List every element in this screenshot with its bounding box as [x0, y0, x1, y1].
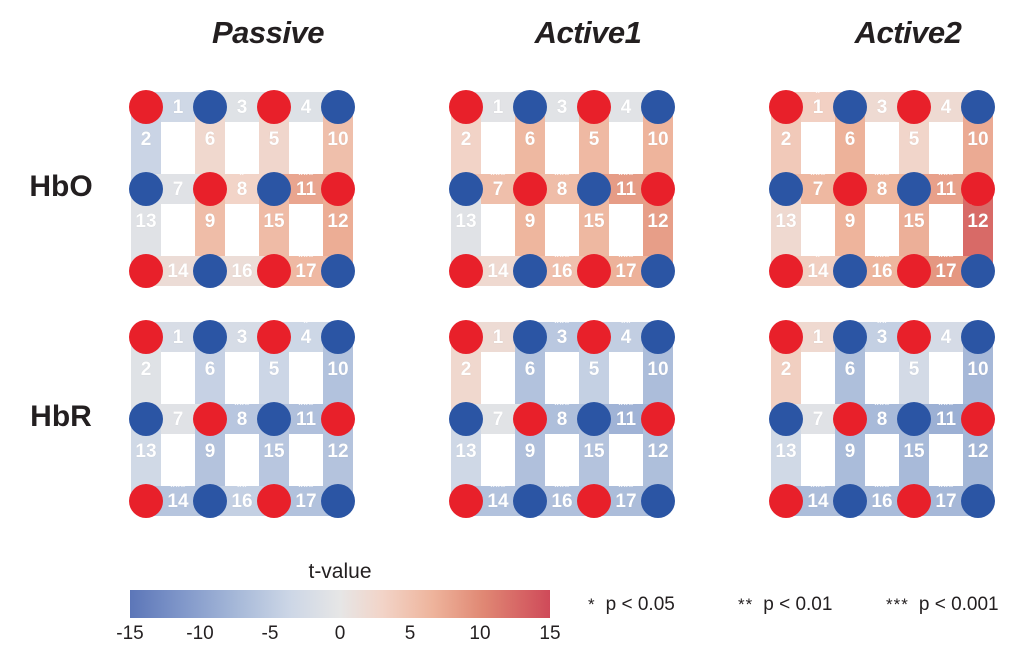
- source-optode-S3: [193, 402, 227, 436]
- channel-2-label: 2: [451, 360, 481, 379]
- legend-p01: **p < 0.01: [738, 594, 832, 616]
- channel-10-label: 10: [963, 360, 993, 379]
- source-optode-S1: [769, 320, 803, 354]
- channel-6-label: 6: [835, 130, 865, 149]
- detector-optode-D5: [513, 484, 547, 518]
- source-optode-S4: [321, 172, 355, 206]
- source-optode-S2: [257, 90, 291, 124]
- source-optode-S1: [449, 320, 483, 354]
- channel-9-label: 9: [835, 442, 865, 461]
- source-optode-S4: [961, 402, 995, 436]
- channel-13-label: 13: [451, 212, 481, 231]
- detector-optode-D5: [833, 484, 867, 518]
- panel-hbr-passive: 13*42**6*5***107***8***1113***9***15***1…: [128, 315, 408, 525]
- panel-hbr-active1: 1***3**42***6**5***107***8***11*13***9**…: [448, 315, 728, 525]
- legend-p05-marks: *: [588, 595, 596, 614]
- channel-2-label: 2: [771, 130, 801, 149]
- channel-15-label: 15: [899, 212, 929, 231]
- channel-5-label: 5: [579, 130, 609, 149]
- detector-optode-D1: [193, 320, 227, 354]
- detector-optode-D1: [513, 90, 547, 124]
- channel-12-label: 12: [323, 212, 353, 231]
- source-optode-S6: [577, 484, 611, 518]
- channel-5-label: 5: [899, 130, 929, 149]
- panel-hbr-active2: 1**342***65***107***8***1113***9***15***…: [768, 315, 1024, 525]
- source-optode-S6: [577, 254, 611, 288]
- source-optode-S2: [577, 320, 611, 354]
- detector-optode-D3: [129, 172, 163, 206]
- channel-13-label: 13: [131, 212, 161, 231]
- detector-optode-D2: [321, 320, 355, 354]
- channel-2-label: 2: [131, 360, 161, 379]
- channel-9-label: 9: [195, 442, 225, 461]
- channel-15-label: 15: [259, 212, 289, 231]
- channel-12-label: 12: [963, 212, 993, 231]
- source-optode-S4: [961, 172, 995, 206]
- colorbar-tick-1: -10: [170, 623, 230, 645]
- source-optode-S2: [897, 90, 931, 124]
- channel-6-label: 6: [195, 360, 225, 379]
- colorbar-tick-4: 5: [380, 623, 440, 645]
- detector-optode-D6: [641, 254, 675, 288]
- source-optode-S4: [321, 402, 355, 436]
- detector-optode-D3: [449, 402, 483, 436]
- detector-optode-D6: [321, 254, 355, 288]
- source-optode-S3: [193, 172, 227, 206]
- channel-13-label: 13: [131, 442, 161, 461]
- detector-optode-D6: [961, 254, 995, 288]
- colorbar-tick-2: -5: [240, 623, 300, 645]
- channel-12-label: 12: [323, 442, 353, 461]
- detector-optode-D5: [193, 484, 227, 518]
- channel-15-label: 15: [579, 212, 609, 231]
- colorbar-tick-5: 10: [450, 623, 510, 645]
- channel-10-label: 10: [643, 130, 673, 149]
- detector-optode-D6: [321, 484, 355, 518]
- channel-5-label: 5: [259, 130, 289, 149]
- channel-10-label: 10: [323, 130, 353, 149]
- detector-optode-D2: [961, 90, 995, 124]
- source-optode-S2: [897, 320, 931, 354]
- source-optode-S4: [641, 402, 675, 436]
- detector-optode-D4: [577, 402, 611, 436]
- source-optode-S5: [449, 484, 483, 518]
- detector-optode-D6: [641, 484, 675, 518]
- channel-9-label: 9: [515, 212, 545, 231]
- detector-optode-D3: [769, 402, 803, 436]
- channel-6-label: 6: [515, 130, 545, 149]
- source-optode-S6: [257, 484, 291, 518]
- channel-2-label: 2: [451, 130, 481, 149]
- row-label-hbo: HbO: [6, 170, 116, 204]
- channel-12-label: 12: [643, 442, 673, 461]
- detector-optode-D3: [769, 172, 803, 206]
- channel-13-label: 13: [771, 212, 801, 231]
- column-title-active2: Active2: [768, 14, 1024, 52]
- channel-5-label: 5: [899, 360, 929, 379]
- legend-p01-text: p < 0.01: [763, 594, 832, 615]
- source-optode-S3: [513, 172, 547, 206]
- channel-15-label: 15: [899, 442, 929, 461]
- source-optode-S5: [129, 254, 163, 288]
- channel-10-label: 10: [323, 360, 353, 379]
- source-optode-S3: [833, 402, 867, 436]
- detector-optode-D5: [833, 254, 867, 288]
- channel-9-label: 9: [515, 442, 545, 461]
- detector-optode-D2: [961, 320, 995, 354]
- detector-optode-D5: [193, 254, 227, 288]
- row-label-hbr: HbR: [6, 400, 116, 434]
- source-optode-S1: [449, 90, 483, 124]
- colorbar-tick-0: -15: [100, 623, 160, 645]
- legend-p001-marks: ***: [886, 595, 909, 614]
- source-optode-S5: [769, 484, 803, 518]
- detector-optode-D1: [193, 90, 227, 124]
- source-optode-S1: [769, 90, 803, 124]
- channel-12-label: 12: [963, 442, 993, 461]
- detector-optode-D1: [833, 90, 867, 124]
- panel-hbo-active1: 1342***6***5***10***7***8***1113***9***1…: [448, 85, 728, 295]
- channel-15-label: 15: [579, 442, 609, 461]
- channel-13-label: 13: [771, 442, 801, 461]
- channel-10-label: 10: [643, 360, 673, 379]
- detector-optode-D1: [833, 320, 867, 354]
- source-optode-S5: [129, 484, 163, 518]
- source-optode-S2: [577, 90, 611, 124]
- detector-optode-D4: [257, 402, 291, 436]
- channel-5-label: 5: [259, 360, 289, 379]
- legend-p01-marks: **: [738, 595, 753, 614]
- source-optode-S6: [897, 254, 931, 288]
- source-optode-S2: [257, 320, 291, 354]
- panel-hbo-passive: 134265***107*8***1113***9***15***121416*…: [128, 85, 408, 295]
- channel-9-label: 9: [835, 212, 865, 231]
- channel-13-label: 13: [451, 442, 481, 461]
- source-optode-S3: [513, 402, 547, 436]
- detector-optode-D1: [513, 320, 547, 354]
- colorbar-title: t-value: [130, 560, 550, 584]
- column-title-active1: Active1: [448, 14, 728, 52]
- detector-optode-D4: [897, 172, 931, 206]
- detector-optode-D4: [577, 172, 611, 206]
- channel-6-label: 6: [515, 360, 545, 379]
- detector-optode-D2: [321, 90, 355, 124]
- channel-2-label: 2: [131, 130, 161, 149]
- detector-optode-D3: [449, 172, 483, 206]
- detector-optode-D2: [641, 320, 675, 354]
- channel-15-label: 15: [259, 442, 289, 461]
- column-title-passive: Passive: [128, 14, 408, 52]
- channel-12-label: 12: [643, 212, 673, 231]
- legend-p05-text: p < 0.05: [606, 594, 675, 615]
- source-optode-S1: [129, 320, 163, 354]
- detector-optode-D4: [897, 402, 931, 436]
- legend-p05: *p < 0.05: [588, 594, 675, 616]
- legend-p001: ***p < 0.001: [886, 594, 999, 616]
- detector-optode-D6: [961, 484, 995, 518]
- fnirs-tvalue-figure: Passive Active1 Active2 HbO HbR 134265**…: [0, 0, 1024, 645]
- channel-6-label: 6: [835, 360, 865, 379]
- panel-hbo-active2: *134*2***65***10***7***8***1113***9***15…: [768, 85, 1024, 295]
- source-optode-S5: [449, 254, 483, 288]
- legend-p001-text: p < 0.001: [919, 594, 999, 615]
- source-optode-S1: [129, 90, 163, 124]
- source-optode-S5: [769, 254, 803, 288]
- source-optode-S6: [257, 254, 291, 288]
- detector-optode-D4: [257, 172, 291, 206]
- detector-optode-D2: [641, 90, 675, 124]
- channel-5-label: 5: [579, 360, 609, 379]
- channel-2-label: 2: [771, 360, 801, 379]
- detector-optode-D5: [513, 254, 547, 288]
- colorbar-gradient: [130, 590, 550, 618]
- channel-9-label: 9: [195, 212, 225, 231]
- detector-optode-D3: [129, 402, 163, 436]
- source-optode-S4: [641, 172, 675, 206]
- colorbar-tick-3: 0: [310, 623, 370, 645]
- source-optode-S3: [833, 172, 867, 206]
- source-optode-S6: [897, 484, 931, 518]
- channel-6-label: 6: [195, 130, 225, 149]
- colorbar-tick-6: 15: [520, 623, 580, 645]
- channel-10-label: 10: [963, 130, 993, 149]
